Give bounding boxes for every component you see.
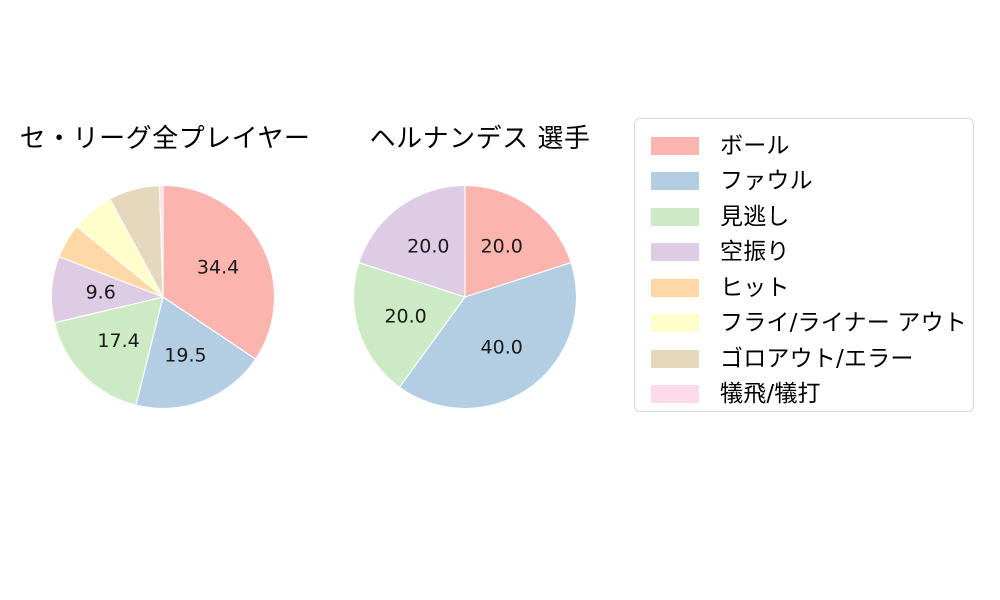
legend-item-3: 空振り	[635, 235, 973, 271]
legend-swatch-icon	[651, 314, 699, 332]
legend-item-7: 犠飛/犠打	[635, 377, 973, 413]
pie-slice-value-label: 20.0	[407, 235, 449, 257]
pie-title-league: セ・リーグ全プレイヤー	[0, 122, 330, 156]
pie-slice-value-label: 20.0	[384, 305, 426, 327]
legend-item-label: 犠飛/犠打	[720, 381, 821, 407]
pie-chart-league: 34.419.517.49.6	[51, 185, 275, 409]
pie-panel-league: セ・リーグ全プレイヤー 34.419.517.49.6	[0, 0, 330, 600]
legend-item-label: ファウル	[720, 168, 813, 194]
pie-slice-value-label: 17.4	[97, 330, 139, 352]
figure-canvas: セ・リーグ全プレイヤー 34.419.517.49.6 ヘルナンデス 選手 20…	[0, 0, 1000, 600]
pie-slice-value-label: 19.5	[164, 344, 206, 366]
legend-item-label: ゴロアウト/エラー	[720, 346, 914, 372]
pie-title-player: ヘルナンデス 選手	[330, 122, 630, 156]
legend-item-label: 見逃し	[720, 204, 790, 230]
legend-item-0: ボール	[635, 128, 973, 164]
legend-swatch-icon	[651, 385, 699, 403]
legend-item-6: ゴロアウト/エラー	[635, 341, 973, 377]
legend-item-label: 空振り	[720, 239, 790, 265]
chart-legend: ボール ファウル 見逃し 空振り ヒット フライ/ライナー アウト ゴロアウト/…	[634, 118, 974, 412]
legend-item-label: ヒット	[720, 275, 790, 301]
legend-item-5: フライ/ライナー アウト	[635, 306, 973, 342]
legend-swatch-icon	[651, 172, 699, 190]
legend-item-1: ファウル	[635, 164, 973, 200]
pie-slice-value-label: 40.0	[481, 337, 523, 359]
legend-item-label: ボール	[720, 133, 790, 159]
legend-item-label: フライ/ライナー アウト	[720, 310, 967, 336]
pie-panel-player: ヘルナンデス 選手 20.040.020.020.0	[330, 0, 630, 600]
legend-swatch-icon	[651, 137, 699, 155]
pie-slice-value-label: 20.0	[481, 235, 523, 257]
pie-slice-value-label: 34.4	[197, 257, 239, 279]
pie-svg-league: 34.419.517.49.6	[51, 185, 275, 409]
legend-swatch-icon	[651, 243, 699, 261]
legend-swatch-icon	[651, 350, 699, 368]
pie-chart-player: 20.040.020.020.0	[353, 185, 577, 409]
legend-swatch-icon	[651, 279, 699, 297]
pie-svg-player: 20.040.020.020.0	[353, 185, 577, 409]
legend-item-4: ヒット	[635, 270, 973, 306]
pie-slice-value-label: 9.6	[86, 282, 116, 304]
legend-item-2: 見逃し	[635, 199, 973, 235]
legend-swatch-icon	[651, 208, 699, 226]
